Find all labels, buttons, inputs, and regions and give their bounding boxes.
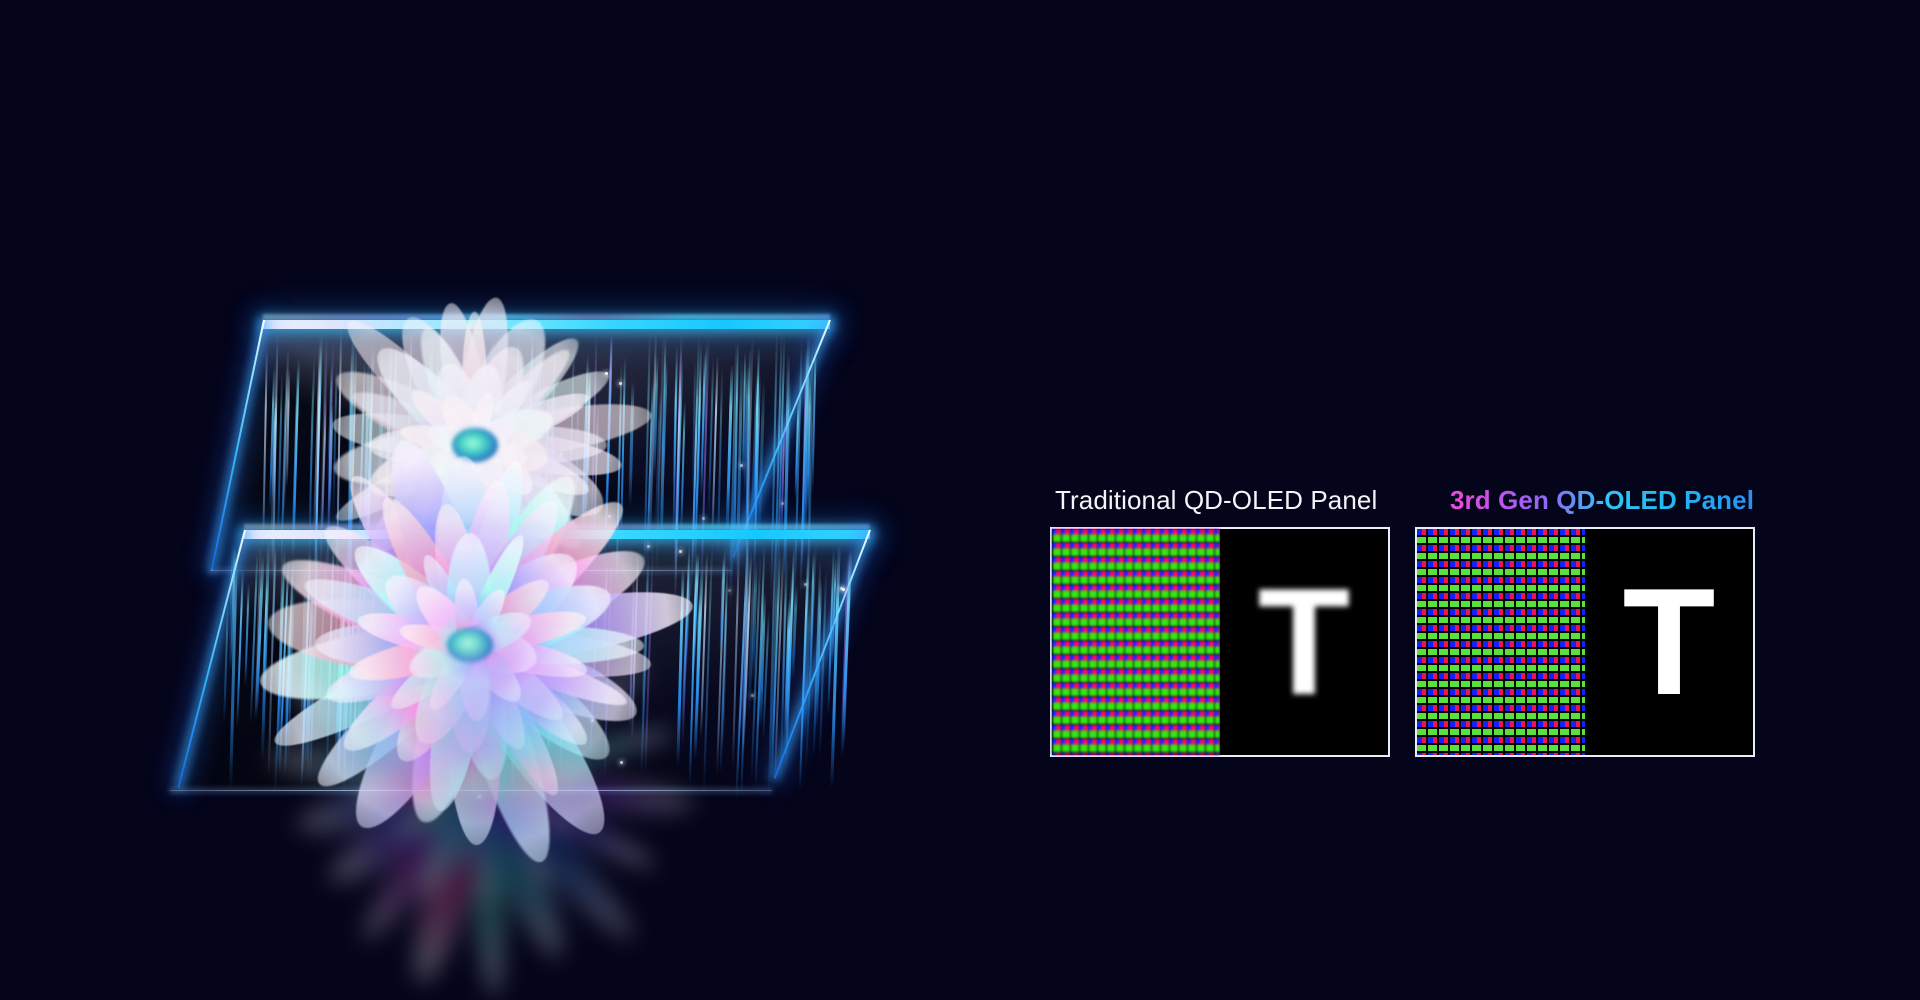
light-ray: [244, 583, 250, 687]
traditional-panel-label: Traditional QD-OLED Panel: [1055, 485, 1377, 516]
traditional-panel: T: [1050, 527, 1390, 757]
traditional-letter-t: T: [1258, 566, 1351, 718]
traditional-subpixel-grid: [1052, 529, 1220, 755]
third-gen-letter-t: T: [1623, 566, 1716, 718]
third-gen-letter-area: T: [1585, 529, 1753, 755]
flower-reflection: [280, 720, 680, 840]
light-spark: [781, 502, 784, 505]
third-gen-panel: T: [1415, 527, 1755, 757]
qd-oled-panel-illustration: [150, 300, 910, 1000]
third-gen-panel-label: 3rd Gen QD-OLED Panel: [1450, 485, 1754, 516]
light-spark: [702, 517, 705, 520]
screen-root: Traditional QD-OLED Panel 3rd Gen QD-OLE…: [0, 0, 1920, 1000]
light-ray: [236, 569, 244, 728]
light-spark: [842, 588, 845, 591]
light-spark: [804, 583, 807, 586]
third-gen-subpixel-grid: [1417, 529, 1585, 755]
light-ray: [684, 567, 692, 674]
traditional-letter-area: T: [1220, 529, 1388, 755]
light-spark: [740, 464, 743, 467]
flower-reflection-core: [457, 763, 503, 797]
